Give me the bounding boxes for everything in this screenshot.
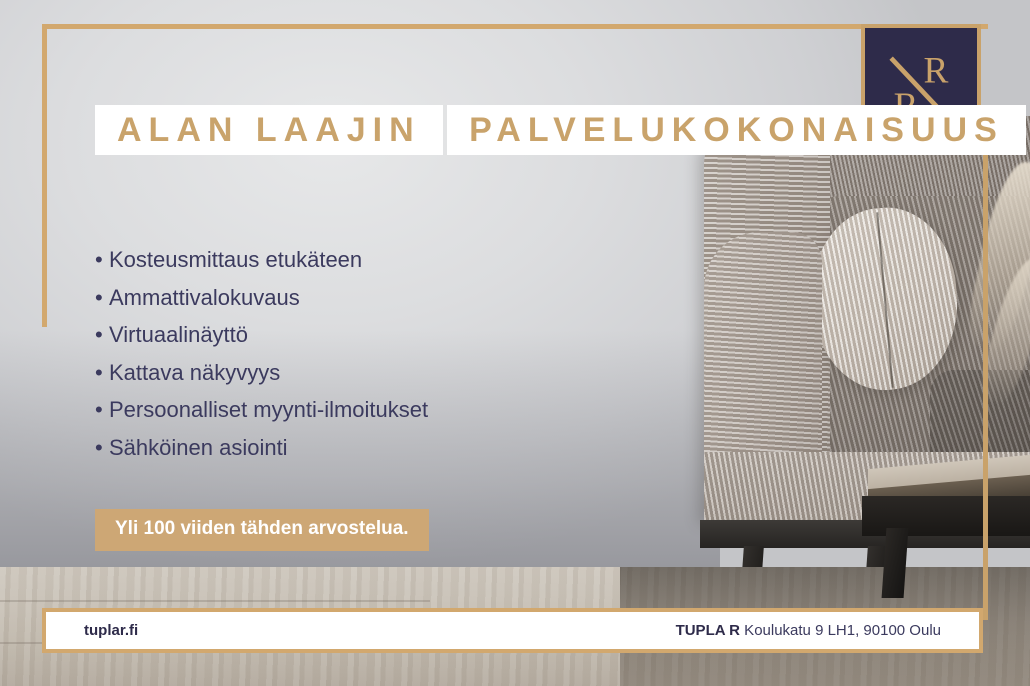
company-name: TUPLA R (676, 622, 740, 639)
address: TUPLA R Koulukatu 9 LH1, 90100 Oulu (676, 622, 941, 639)
list-item: •Virtuaalinäyttö (95, 316, 555, 354)
bullet-icon: • (95, 354, 109, 392)
headline-line-2: PALVELUKOKONAISUUS (447, 105, 1026, 155)
headline: ALAN LAAJIN PALVELUKOKONAISUUS (95, 93, 1026, 155)
bullet-icon: • (95, 279, 109, 317)
list-item: •Persoonalliset myynti-ilmoitukset (95, 391, 555, 429)
frame-top-line (42, 24, 988, 29)
list-item-label: Persoonalliset myynti-ilmoitukset (109, 397, 428, 422)
feature-list: •Kosteusmittaus etukäteen •Ammattivaloku… (95, 241, 555, 466)
list-item: •Ammattivalokuvaus (95, 279, 555, 317)
tagline-badge: Yli 100 viiden tähden arvostelua. (95, 509, 429, 551)
headline-line-1: ALAN LAAJIN (95, 105, 443, 155)
floor-plank (0, 600, 430, 602)
list-item-label: Ammattivalokuvaus (109, 285, 300, 310)
bullet-icon: • (95, 241, 109, 279)
list-item: •Kattava näkyvyys (95, 354, 555, 392)
list-item-label: Virtuaalinäyttö (109, 322, 248, 347)
frame-right-line (983, 152, 988, 620)
bullet-icon: • (95, 391, 109, 429)
list-item: •Kosteusmittaus etukäteen (95, 241, 555, 279)
frame-left-line (42, 24, 47, 327)
list-item: •Sähköinen asiointi (95, 429, 555, 467)
svg-text:R: R (923, 50, 948, 91)
list-item-label: Sähköinen asiointi (109, 435, 288, 460)
website-link[interactable]: tuplar.fi (84, 622, 138, 639)
advertisement-banner: R R ALAN LAAJIN PALVELUKOKONAISUUS •Kost… (0, 0, 1030, 686)
bullet-icon: • (95, 429, 109, 467)
bullet-icon: • (95, 316, 109, 354)
list-item-label: Kosteusmittaus etukäteen (109, 247, 362, 272)
footer-bar: tuplar.fi TUPLA R Koulukatu 9 LH1, 90100… (42, 608, 983, 653)
list-item-label: Kattava näkyvyys (109, 360, 280, 385)
address-text: Koulukatu 9 LH1, 90100 Oulu (740, 622, 941, 639)
